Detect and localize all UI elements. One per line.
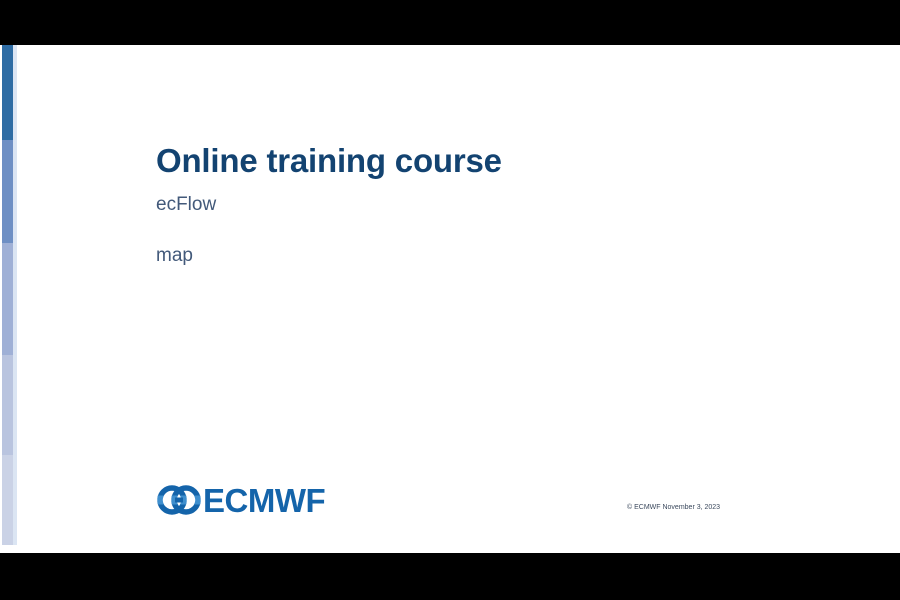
accent-rail-tint [13,45,17,545]
accent-bar [2,355,13,455]
ecmwf-wordmark: ECMWF [203,484,325,517]
accent-bar [2,455,13,545]
ecmwf-globe-emblem-icon [157,485,201,515]
slide-subtitle: ecFlow [156,194,216,216]
slide-topic: map [156,245,193,267]
accent-bar [2,243,13,355]
presentation-slide: Online training course ecFlow map [0,45,900,553]
video-slide-viewer: Online training course ecFlow map [0,0,900,600]
copyright-notice: © ECMWF November 3, 2023 [627,504,720,511]
ecmwf-logo: ECMWF [157,482,325,518]
accent-bar [2,45,13,140]
slide-title: Online training course [156,142,502,180]
letterbox-bottom-bar [0,553,900,600]
accent-bar [2,140,13,243]
letterbox-top-bar [0,0,900,45]
left-accent-rail [2,45,17,545]
